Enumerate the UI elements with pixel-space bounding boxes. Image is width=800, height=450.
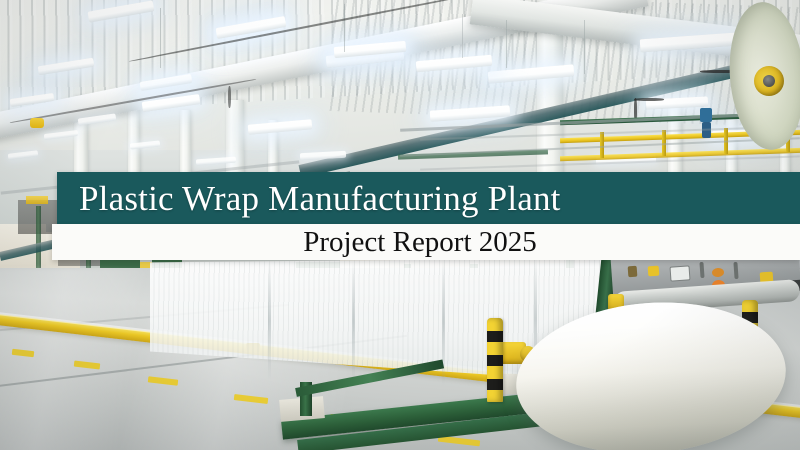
- page-title: Plastic Wrap Manufacturing Plant: [57, 181, 561, 216]
- hanging-conduit: [462, 14, 463, 58]
- console-display: [670, 265, 691, 281]
- hanging-conduit: [584, 20, 585, 74]
- subtitle-banner: Project Report 2025: [52, 224, 800, 260]
- hanging-conduit: [160, 8, 161, 68]
- console-knob-yellow: [648, 266, 660, 277]
- hanging-conduit: [506, 20, 507, 68]
- poster-canvas: Plastic Wrap Manufacturing Plant Project…: [0, 0, 800, 450]
- safety-bollard: [487, 318, 503, 402]
- console-knob: [628, 266, 638, 278]
- wall-mounted-device: [700, 108, 712, 122]
- title-banner: Plastic Wrap Manufacturing Plant: [57, 172, 800, 224]
- page-subtitle: Project Report 2025: [303, 228, 549, 257]
- overhead-cable-hook: [228, 86, 231, 108]
- background-yellow-fixture: [26, 196, 48, 204]
- overhead-cable-hook: [634, 98, 664, 101]
- ceiling-hoist-unit: [30, 118, 44, 128]
- film-fold-crease: [268, 262, 271, 380]
- roll-core-shaft: [763, 75, 775, 87]
- film-fold-crease: [352, 260, 355, 384]
- hanging-conduit: [344, 4, 345, 52]
